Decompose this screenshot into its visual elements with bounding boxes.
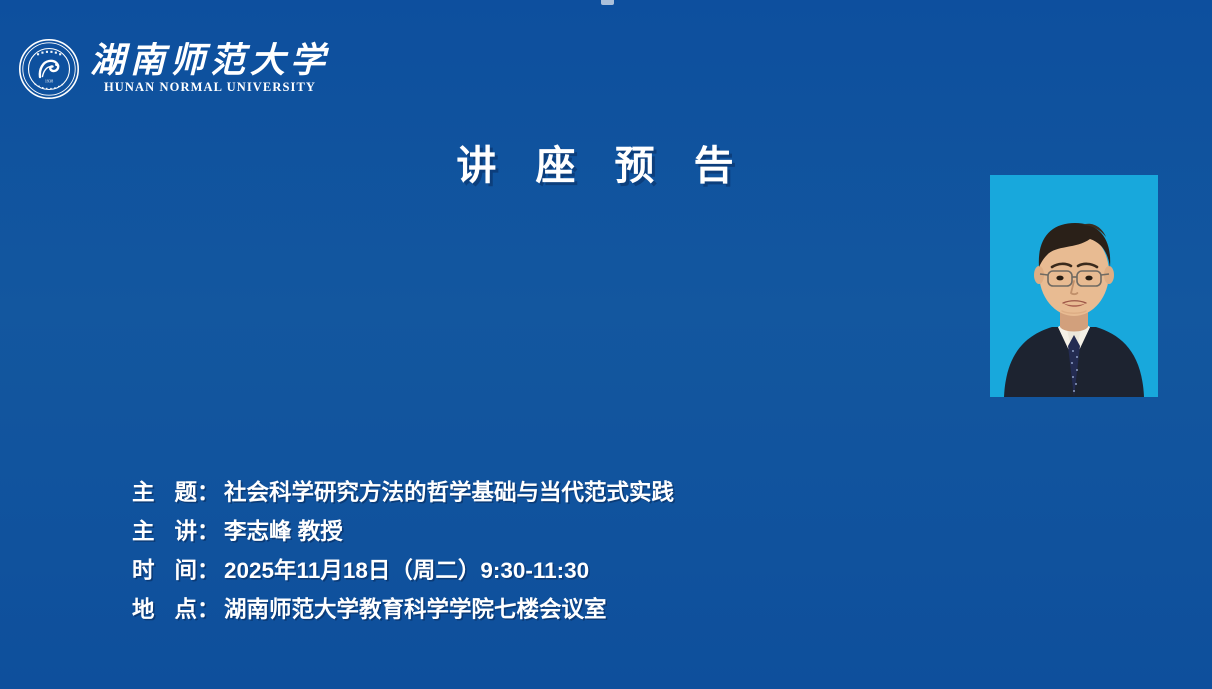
lecture-details-list: 主题： 社会科学研究方法的哲学基础与当代范式实践 主讲： 李志峰 教授 时间： …	[132, 475, 1212, 624]
detail-value-topic: 社会科学研究方法的哲学基础与当代范式实践	[224, 475, 1212, 507]
page-title: 讲 座 预 告	[430, 133, 760, 191]
detail-row-topic: 主题： 社会科学研究方法的哲学基础与当代范式实践	[132, 475, 1212, 507]
university-name-en: HUNAN NORMAL UNIVERSITY	[90, 80, 330, 95]
detail-row-speaker: 主讲： 李志峰 教授	[132, 514, 1212, 546]
detail-label-topic: 主题：	[132, 475, 224, 507]
top-edge-artifact	[601, 0, 614, 5]
seal-year-text: 1938	[45, 78, 53, 83]
detail-label-time: 时间：	[132, 553, 224, 585]
lecture-announcement-poster: 1938	[0, 0, 1212, 689]
university-seal-icon: 1938	[18, 38, 80, 100]
university-wordmark: 湖南师范大学 HUNAN NORMAL UNIVERSITY	[90, 43, 330, 96]
university-logo: 1938	[18, 38, 1212, 100]
detail-value-venue: 湖南师范大学教育科学学院七楼会议室	[224, 592, 1212, 624]
detail-row-venue: 地点： 湖南师范大学教育科学学院七楼会议室	[132, 592, 1212, 624]
detail-value-time: 2025年11月18日（周二）9:30-11:30	[224, 553, 1212, 585]
detail-row-time: 时间： 2025年11月18日（周二）9:30-11:30	[132, 553, 1212, 585]
detail-label-speaker: 主讲：	[132, 514, 224, 546]
detail-value-speaker: 李志峰 教授	[224, 514, 1212, 546]
speaker-portrait-photo	[990, 175, 1158, 397]
detail-label-venue: 地点：	[132, 592, 224, 624]
university-name-cn: 湖南师范大学	[90, 43, 330, 80]
